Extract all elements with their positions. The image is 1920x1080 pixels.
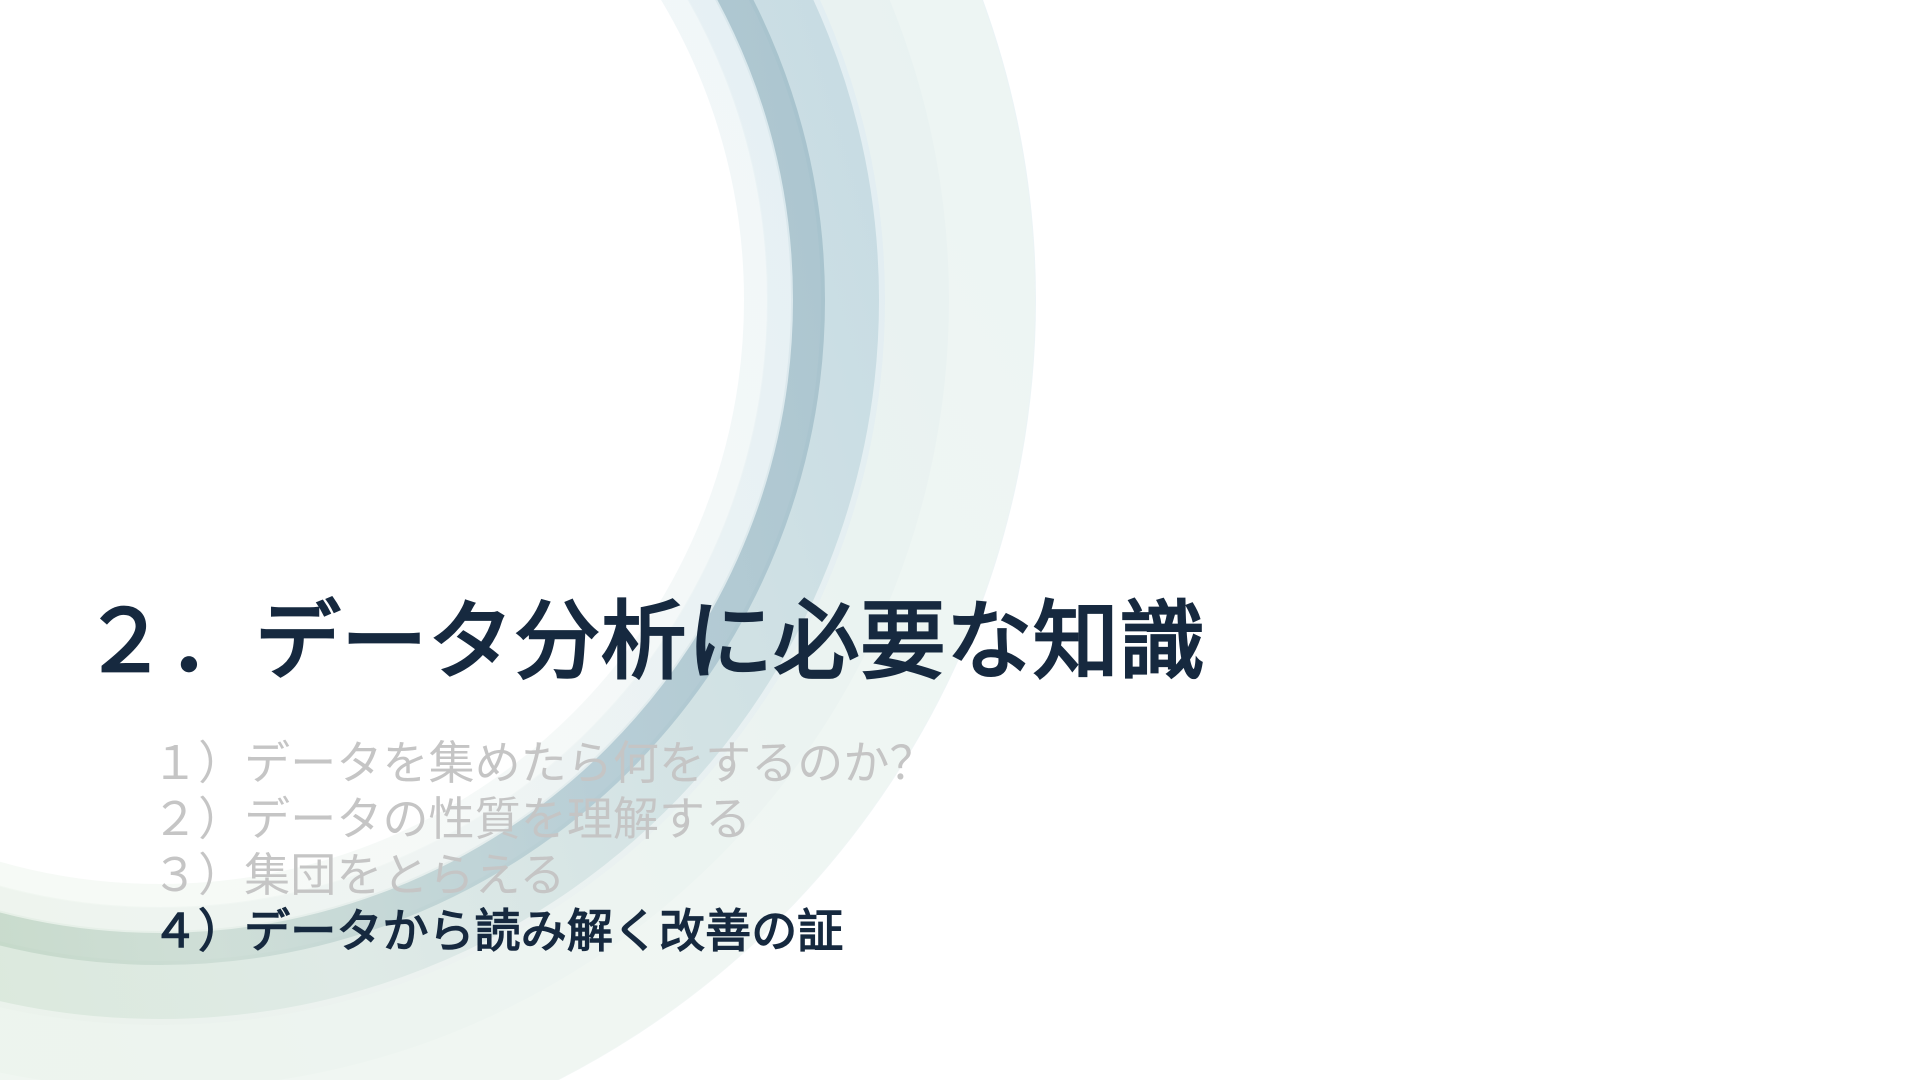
agenda-item-2[interactable]: ２）データの性質を理解する bbox=[152, 791, 936, 847]
page-title: ２．データ分析に必要な知識 bbox=[82, 596, 1206, 689]
slide-content: ２．データ分析に必要な知識 １）データを集めたら何をするのか？ ２）データの性質… bbox=[0, 0, 1920, 1080]
agenda-list: １）データを集めたら何をするのか？ ２）データの性質を理解する ３）集団をとらえ… bbox=[152, 735, 936, 959]
presentation-slide: ２．データ分析に必要な知識 １）データを集めたら何をするのか？ ２）データの性質… bbox=[0, 0, 1920, 1080]
agenda-item-4[interactable]: ４）データから読み解く改善の証 bbox=[152, 903, 936, 959]
agenda-item-1[interactable]: １）データを集めたら何をするのか？ bbox=[152, 735, 936, 791]
agenda-item-3[interactable]: ３）集団をとらえる bbox=[152, 847, 936, 903]
